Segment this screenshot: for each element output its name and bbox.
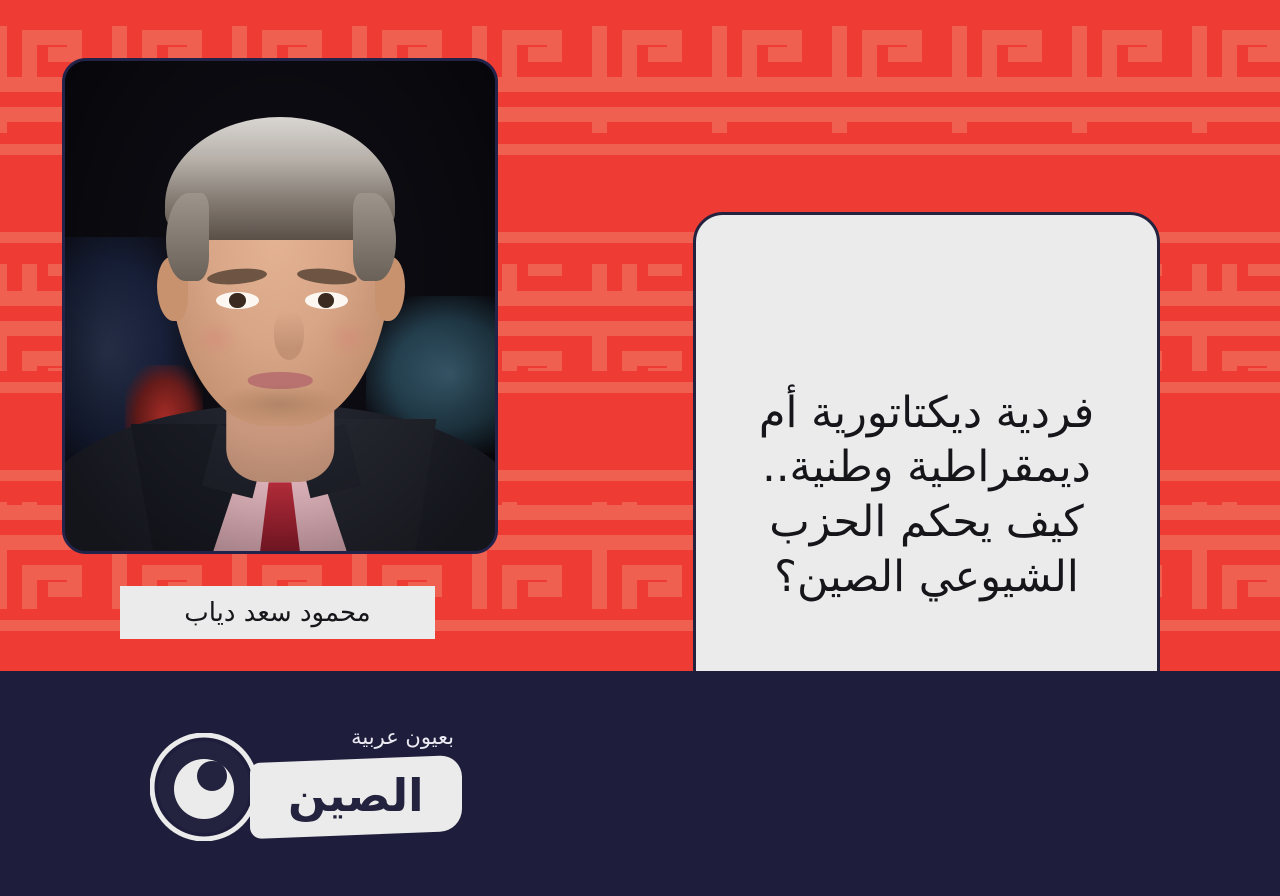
- eye-in-circle-icon: [150, 733, 258, 841]
- photo-vignette: [65, 61, 495, 551]
- author-name-text: محمود سعد دياب: [184, 598, 370, 628]
- headline-text: فردية ديكتاتورية أم ديمقراطية وطنية.. كي…: [722, 386, 1131, 604]
- logo-tagline: بعيون عربية: [351, 725, 454, 749]
- logo-name-badge: الصين: [250, 755, 462, 839]
- logo-name-text: الصين: [288, 773, 424, 822]
- footer-bar: بعيون عربية الصين: [0, 671, 1280, 896]
- poster-canvas: محمود سعد دياب فردية ديكتاتورية أم ديمقر…: [0, 0, 1280, 896]
- portrait-card: [62, 58, 498, 554]
- author-name-label: محمود سعد دياب: [120, 586, 435, 639]
- portrait-photo: [65, 61, 495, 551]
- site-logo[interactable]: بعيون عربية الصين: [150, 721, 480, 841]
